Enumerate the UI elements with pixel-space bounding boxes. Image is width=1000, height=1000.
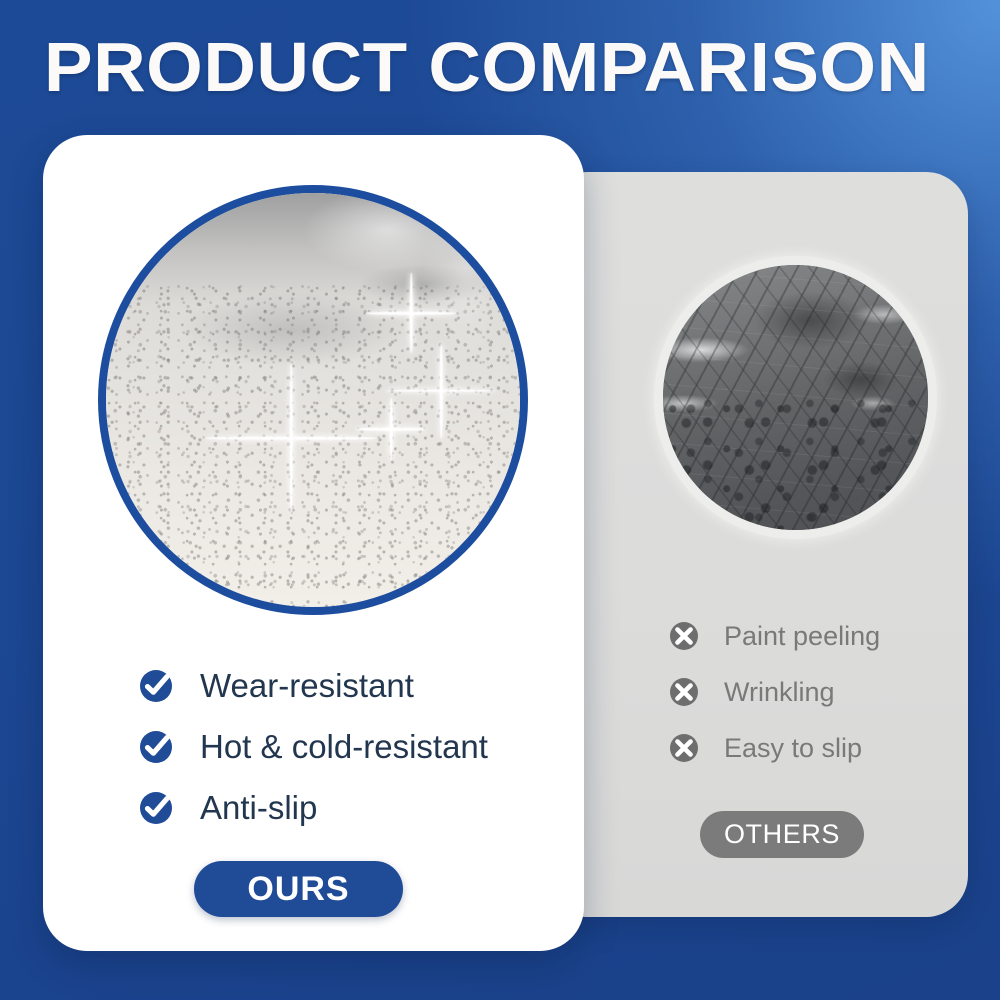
others-chip-overlay	[663, 392, 928, 530]
list-item: Wrinkling	[668, 664, 880, 720]
ours-feature-list: Wear-resistant Hot & cold-resistant Anti…	[138, 655, 488, 838]
list-item-label: Paint peeling	[724, 621, 880, 652]
page-title: PRODUCT COMPARISON	[44, 28, 1000, 106]
list-item-label: Wrinkling	[724, 677, 835, 708]
list-item: Anti-slip	[138, 777, 488, 838]
x-circle-icon	[668, 620, 700, 652]
others-product-image	[663, 265, 928, 530]
check-circle-icon	[138, 729, 174, 765]
list-item: Paint peeling	[668, 608, 880, 664]
others-card	[545, 172, 968, 917]
list-item: Wear-resistant	[138, 655, 488, 716]
list-item-label: Anti-slip	[200, 789, 317, 827]
x-circle-icon	[668, 732, 700, 764]
ours-product-image	[98, 185, 528, 615]
list-item-label: Hot & cold-resistant	[200, 728, 488, 766]
ours-badge: OURS	[194, 861, 403, 917]
list-item: Easy to slip	[668, 720, 880, 776]
list-item-label: Wear-resistant	[200, 667, 414, 705]
others-issue-list: Paint peeling Wrinkling Easy to slip	[668, 608, 880, 776]
list-item: Hot & cold-resistant	[138, 716, 488, 777]
list-item-label: Easy to slip	[724, 733, 862, 764]
product-comparison-infographic: PRODUCT COMPARISON	[0, 0, 1000, 1000]
check-circle-icon	[138, 790, 174, 826]
check-circle-icon	[138, 668, 174, 704]
ours-gloss-reflection	[106, 193, 520, 607]
others-badge: OTHERS	[700, 811, 864, 858]
x-circle-icon	[668, 676, 700, 708]
